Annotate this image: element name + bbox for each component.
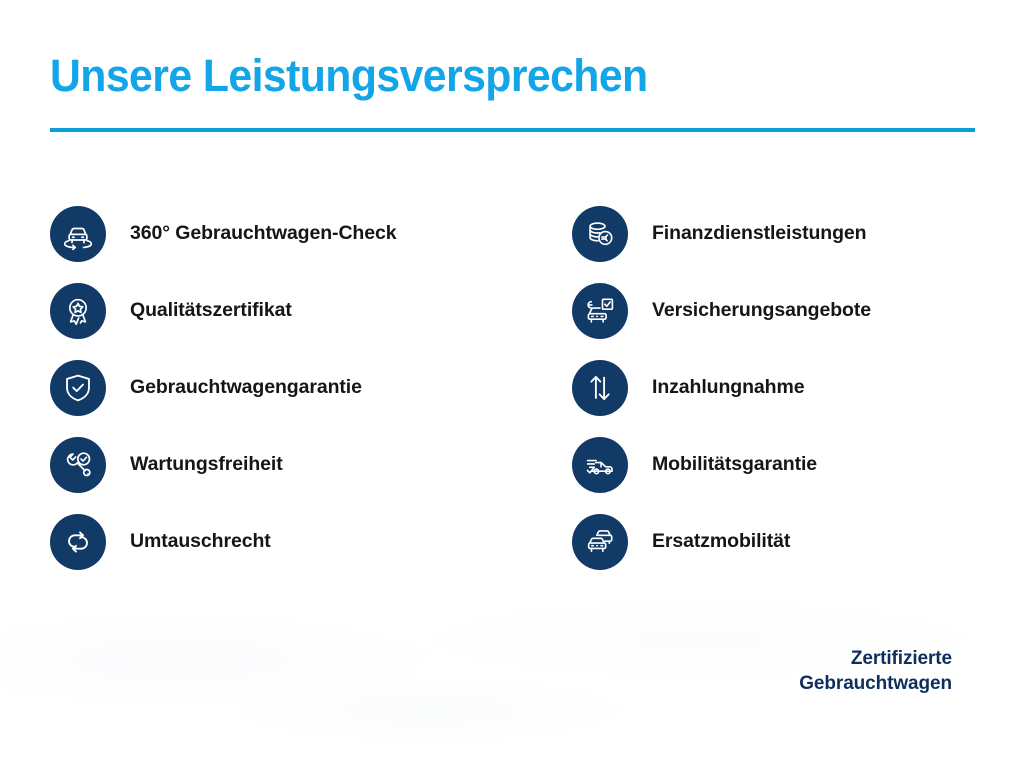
list-item-label: Mobilitätsgarantie [652, 453, 817, 476]
list-item[interactable]: Qualitätszertifikat [50, 272, 520, 349]
page-title: Unsere Leistungsversprechen [50, 48, 648, 104]
list-item[interactable]: Mobilitätsgarantie [572, 426, 1012, 503]
list-item-label: Inzahlungnahme [652, 376, 804, 399]
list-item[interactable]: Gebrauchtwagengarantie [50, 349, 520, 426]
list-item-label: Umtauschrecht [130, 530, 271, 553]
slide-canvas: Unsere Leistungsversprechen 360° Gebrauc… [0, 0, 1024, 768]
wrench-check-icon [50, 437, 106, 493]
shield-check-icon [50, 360, 106, 416]
award-rosette-icon [50, 283, 106, 339]
list-item[interactable]: Inzahlungnahme [572, 349, 1012, 426]
brand-line-1: Zertifizierte [799, 646, 952, 671]
list-item[interactable]: Versicherungsangebote [572, 272, 1012, 349]
list-item-label: Ersatzmobilität [652, 530, 790, 553]
two-cars-icon [572, 514, 628, 570]
exchange-arrows-icon [50, 514, 106, 570]
list-item-label: Wartungsfreiheit [130, 453, 283, 476]
list-item-label: 360° Gebrauchtwagen-Check [130, 222, 396, 245]
coins-euro-icon [572, 206, 628, 262]
list-item[interactable]: Finanzdienstleistungen [572, 195, 1012, 272]
list-item-label: Finanzdienstleistungen [652, 222, 866, 245]
car-checkbox-icon [572, 283, 628, 339]
list-item-label: Qualitätszertifikat [130, 299, 292, 322]
list-item-label: Versicherungsangebote [652, 299, 871, 322]
arrows-up-down-icon [572, 360, 628, 416]
list-item[interactable]: Wartungsfreiheit [50, 426, 520, 503]
features-column-right: Finanzdienstleistungen Versicheru [572, 195, 1012, 580]
list-item[interactable]: Umtauschrecht [50, 503, 520, 580]
list-item[interactable]: Ersatzmobilität [572, 503, 1012, 580]
list-item-label: Gebrauchtwagengarantie [130, 376, 362, 399]
car-motion-check-icon [572, 437, 628, 493]
title-divider-rule [50, 128, 975, 132]
list-item[interactable]: 360° Gebrauchtwagen-Check [50, 195, 520, 272]
features-column-left: 360° Gebrauchtwagen-Check Qualitätszerti… [50, 195, 520, 580]
car-360-rotation-icon [50, 206, 106, 262]
brand-lockup: Zertifizierte Gebrauchtwagen [799, 646, 952, 696]
brand-line-2: Gebrauchtwagen [799, 671, 952, 696]
